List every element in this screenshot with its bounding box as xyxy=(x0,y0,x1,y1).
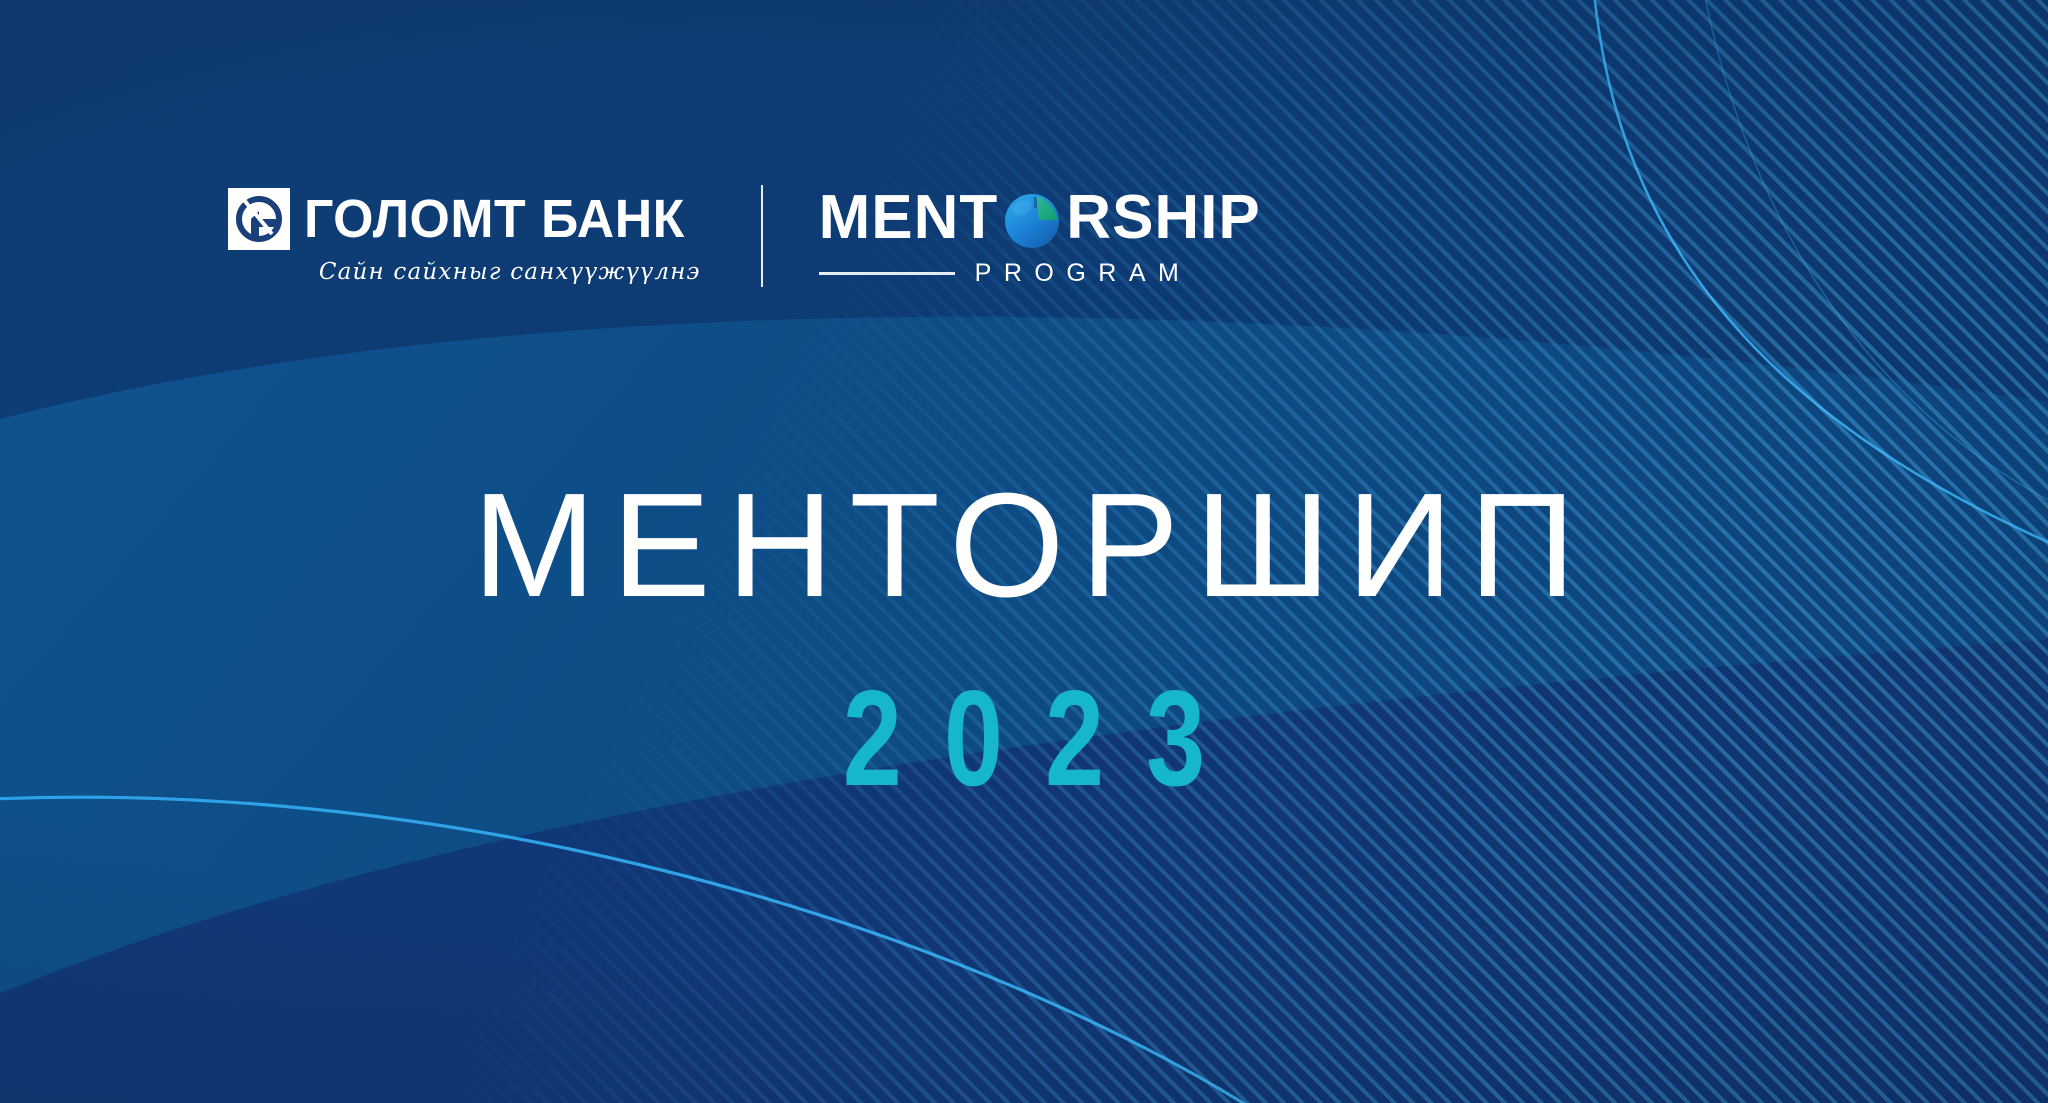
golomt-g-monogram-icon xyxy=(228,188,290,250)
mentorship-subtitle-row: PROGRAM xyxy=(819,261,1261,286)
golomt-tagline: Сайн сайхныг санхүүжүүлнэ xyxy=(319,261,701,284)
horizontal-rule-icon xyxy=(819,272,955,275)
mentorship-word-before: MENT xyxy=(819,187,999,249)
mentorship-program-logo: MENT xyxy=(819,187,1261,286)
golomt-bank-logo: ГОЛОМТ БАНК Сайн сайхныг санхүүжүүлнэ xyxy=(228,188,701,284)
mentorship-wordmark: MENT xyxy=(819,187,1261,249)
page-title: МЕНТОРШИП xyxy=(0,472,2048,620)
golomt-bank-name: ГОЛОМТ БАНК xyxy=(304,192,685,246)
slide-canvas: ГОЛОМТ БАНК Сайн сайхныг санхүүжүүлнэ ME… xyxy=(0,0,2048,1103)
mentorship-subtitle: PROGRAM xyxy=(975,261,1192,286)
mentorship-droplet-circle-icon xyxy=(1001,188,1063,250)
mentorship-word-after: RSHIP xyxy=(1066,187,1260,249)
year-label: 2023 xyxy=(225,670,1822,806)
golomt-logo-row: ГОЛОМТ БАНК xyxy=(228,188,701,250)
vertical-divider-icon xyxy=(761,185,763,287)
logo-header: ГОЛОМТ БАНК Сайн сайхныг санхүүжүүлнэ ME… xyxy=(228,176,1261,296)
